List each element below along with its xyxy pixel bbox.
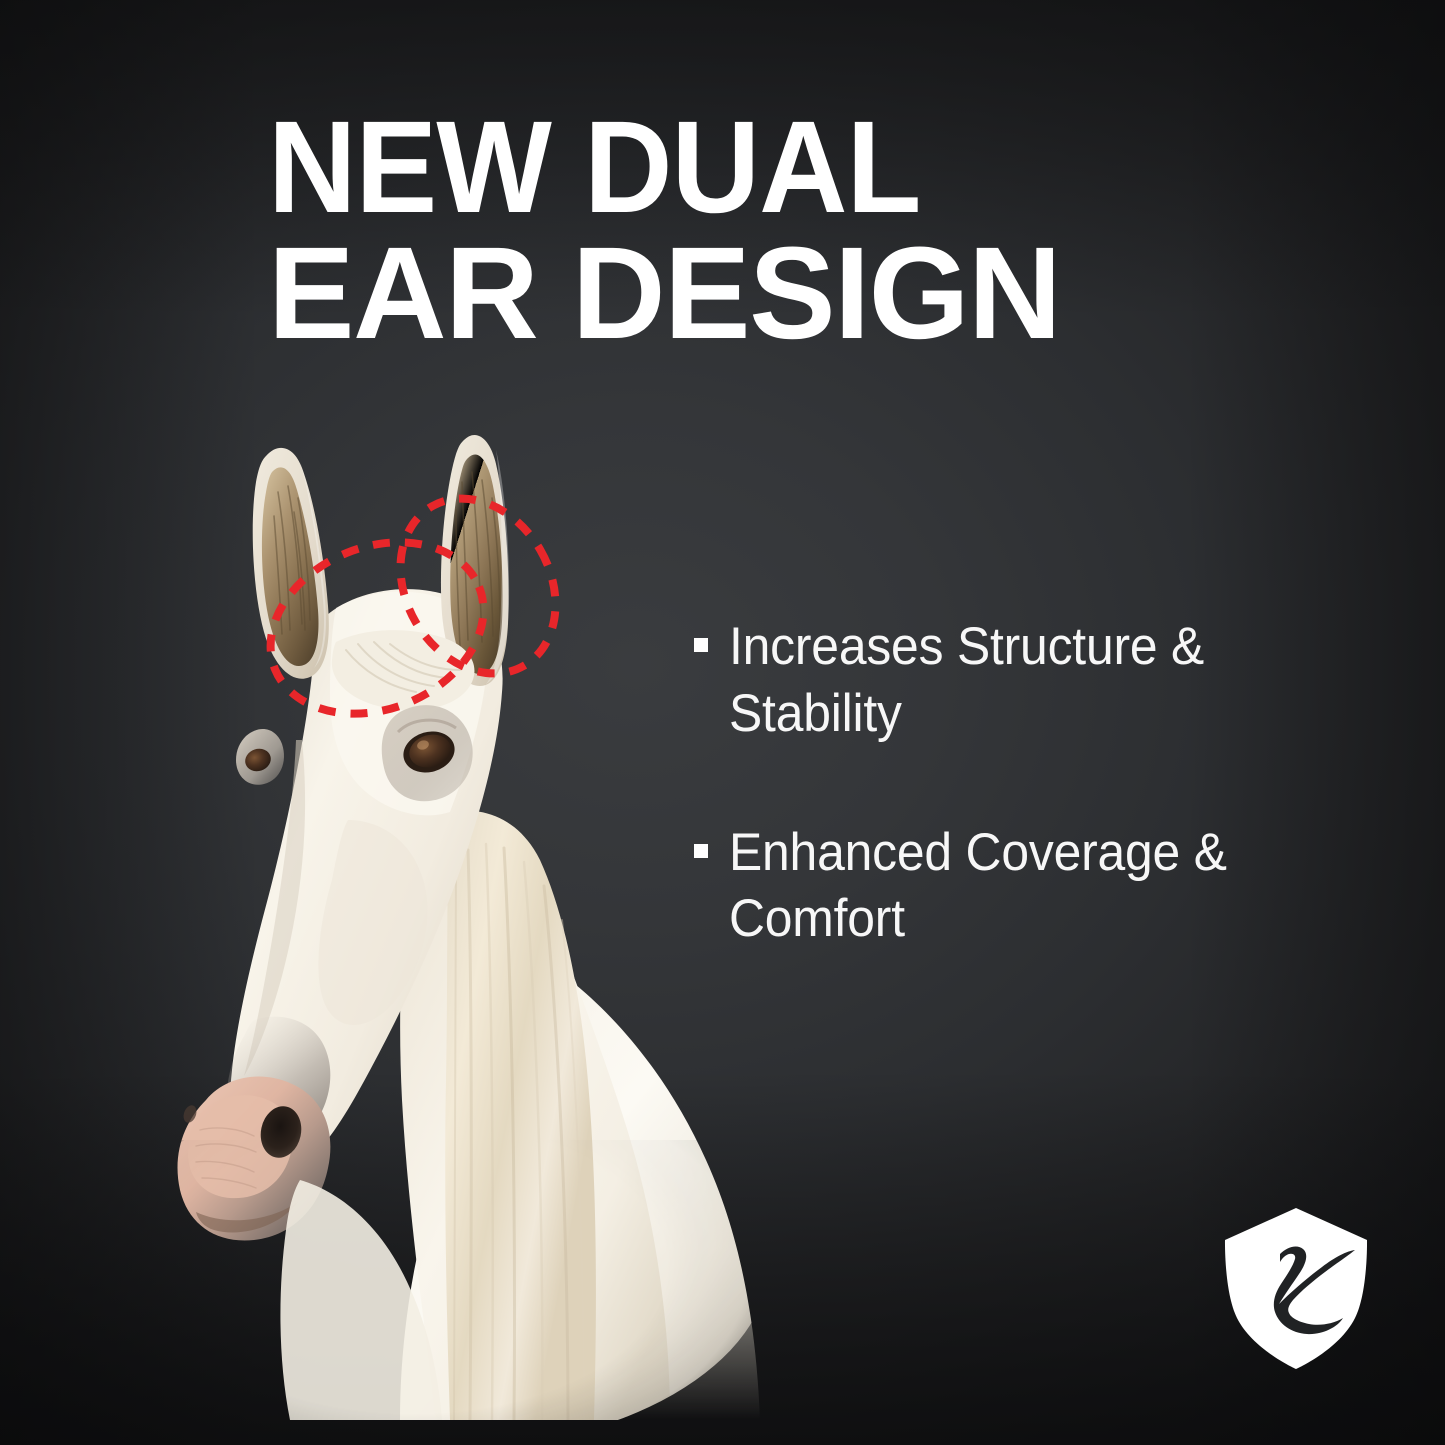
- brand-logo: [1221, 1206, 1371, 1371]
- poster-canvas: NEW DUAL EAR DESIGN Increases Structure …: [0, 0, 1445, 1445]
- headline-line-1: NEW DUAL: [268, 104, 1166, 230]
- feature-text-1: Increases Structure & Stability: [729, 614, 1335, 748]
- horse-ear-left: [253, 448, 329, 679]
- feature-text-2: Enhanced Coverage & Comfort: [729, 820, 1335, 954]
- headline-line-2: EAR DESIGN: [268, 230, 1218, 356]
- shield-k-icon: [1221, 1206, 1371, 1371]
- square-bullet-icon: [694, 844, 708, 858]
- headline: NEW DUAL EAR DESIGN: [268, 104, 1228, 356]
- list-item: Increases Structure & Stability: [694, 614, 1374, 748]
- list-item: Enhanced Coverage & Comfort: [694, 820, 1374, 954]
- feature-list: Increases Structure & Stability Enhanced…: [694, 614, 1374, 953]
- horse-photo: [150, 420, 770, 1420]
- square-bullet-icon: [694, 638, 708, 652]
